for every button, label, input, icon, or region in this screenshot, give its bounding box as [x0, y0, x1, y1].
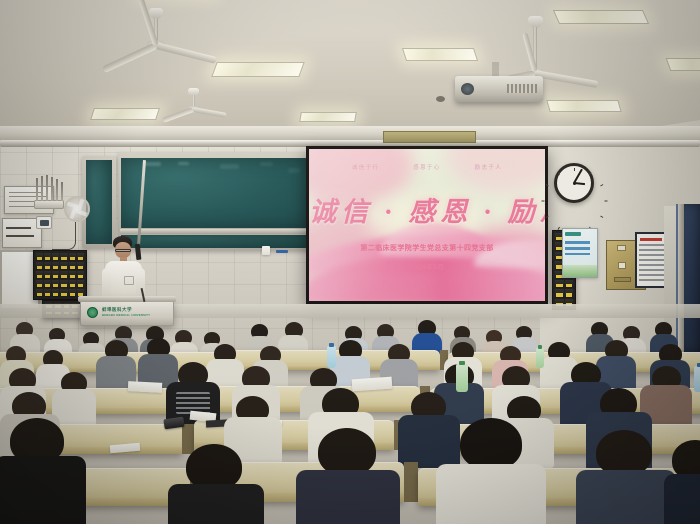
clock-hour-hand: [574, 182, 585, 185]
lectern-podium: 蚌埠医科大学 BENGBU MEDICAL UNIVERSITY: [80, 300, 174, 326]
audience-person-foreground: [576, 430, 676, 524]
ceiling: [0, 0, 700, 140]
ceiling-light-panel: [211, 62, 304, 77]
lectern-institution-subline: BENGBU MEDICAL UNIVERSITY: [102, 313, 150, 317]
speaker-glasses: [115, 249, 131, 252]
phone-storage-board[interactable]: [33, 250, 87, 300]
ceiling-speaker-icon: [436, 96, 445, 102]
slide-date-line: 2024年5月: [309, 261, 545, 271]
poster-header-band: [565, 232, 581, 236]
jammer-antenna: [51, 177, 53, 201]
ceiling-light-panel: [90, 108, 160, 120]
poster-title-band: [640, 238, 662, 242]
chalkboard-lower-strip: [121, 235, 311, 248]
cup-on-ledge: [262, 246, 270, 255]
ceiling-light-panel: [299, 112, 357, 122]
chalkboard-frame: [118, 152, 314, 250]
water-bottle: [536, 348, 544, 368]
projector-screen-valance: [383, 131, 476, 143]
water-bottle: [327, 346, 336, 368]
jammer-antenna: [41, 176, 43, 201]
projection-screen[interactable]: 诚信于行 感恩于心 励志于人 诚信 · 感恩 · 励志 第二临床医学院学生党总支…: [309, 149, 545, 301]
audience-person-foreground: [436, 418, 546, 524]
jammer-antenna: [36, 178, 38, 201]
cabinet-switch-plate[interactable]: [618, 262, 626, 269]
audience-person-foreground: [664, 440, 700, 524]
jammer-cable: [52, 222, 76, 250]
cabinet-label-upper: [617, 245, 626, 251]
slide-phrase-3: 励志于人: [475, 163, 503, 171]
projector-vent: [507, 84, 537, 93]
wall-clock: [554, 163, 594, 203]
jammer-antenna: [46, 175, 48, 201]
clock-center-dot: [573, 182, 576, 185]
slide-main-title: 诚信 · 感恩 · 励志: [309, 190, 545, 229]
blue-marker: [276, 250, 288, 253]
university-emblem: [87, 307, 98, 318]
slide-phrase-1: 诚信于行: [352, 163, 380, 171]
lecture-hall-photo: 诚信于行 感恩于心 励志于人 诚信 · 感恩 · 励志 第二临床医学院学生党总支…: [0, 0, 700, 524]
chalk-tray: [120, 229, 312, 234]
door-jamb: [678, 204, 684, 354]
lectern-institution-name: 蚌埠医科大学 BENGBU MEDICAL UNIVERSITY: [102, 307, 150, 317]
ceiling-light-panel: [546, 100, 621, 112]
poster-footer-art: [563, 265, 597, 277]
desk-row-gap: [404, 462, 418, 502]
cabinet-vent: [614, 277, 631, 283]
water-bottle: [694, 366, 700, 392]
health-poster: [562, 228, 598, 278]
wall-fan: [64, 196, 90, 222]
water-bottle: [456, 364, 468, 392]
ceiling-light-panel: [666, 58, 700, 71]
poster-headline-text: [565, 241, 589, 255]
audience-person-foreground: [0, 418, 86, 524]
jammer-antenna: [56, 179, 58, 201]
chalkboard: [121, 158, 311, 228]
ceiling-fan: [158, 88, 228, 122]
ceiling-fan: [96, 8, 216, 70]
signal-jammer: [34, 200, 64, 209]
slide-top-phrases: 诚信于行 感恩于心 励志于人: [309, 163, 545, 171]
wall-power-outlet[interactable]: [36, 216, 52, 229]
notebook-on-desk: [128, 381, 162, 393]
projection-screen-bezel: 诚信于行 感恩于心 励志于人 诚信 · 感恩 · 励志 第二临床医学院学生党总支…: [306, 146, 548, 304]
lectern-top-edge: [78, 296, 176, 302]
ceiling-projector: [455, 76, 543, 102]
speaker-shirt-pocket: [124, 276, 134, 285]
classroom-door[interactable]: [676, 204, 700, 354]
slide-phrase-2: 感恩于心: [413, 163, 441, 171]
jammer-antenna: [61, 182, 63, 201]
audience-person-foreground: [296, 428, 400, 524]
ceiling-soffit: [0, 126, 700, 140]
ceiling-light-panel: [402, 48, 478, 61]
projector-lens: [461, 83, 474, 95]
slide-subtitle: 第二临床医学院学生党总支第十四党支部: [309, 243, 545, 253]
audience-person-foreground: [168, 444, 264, 524]
